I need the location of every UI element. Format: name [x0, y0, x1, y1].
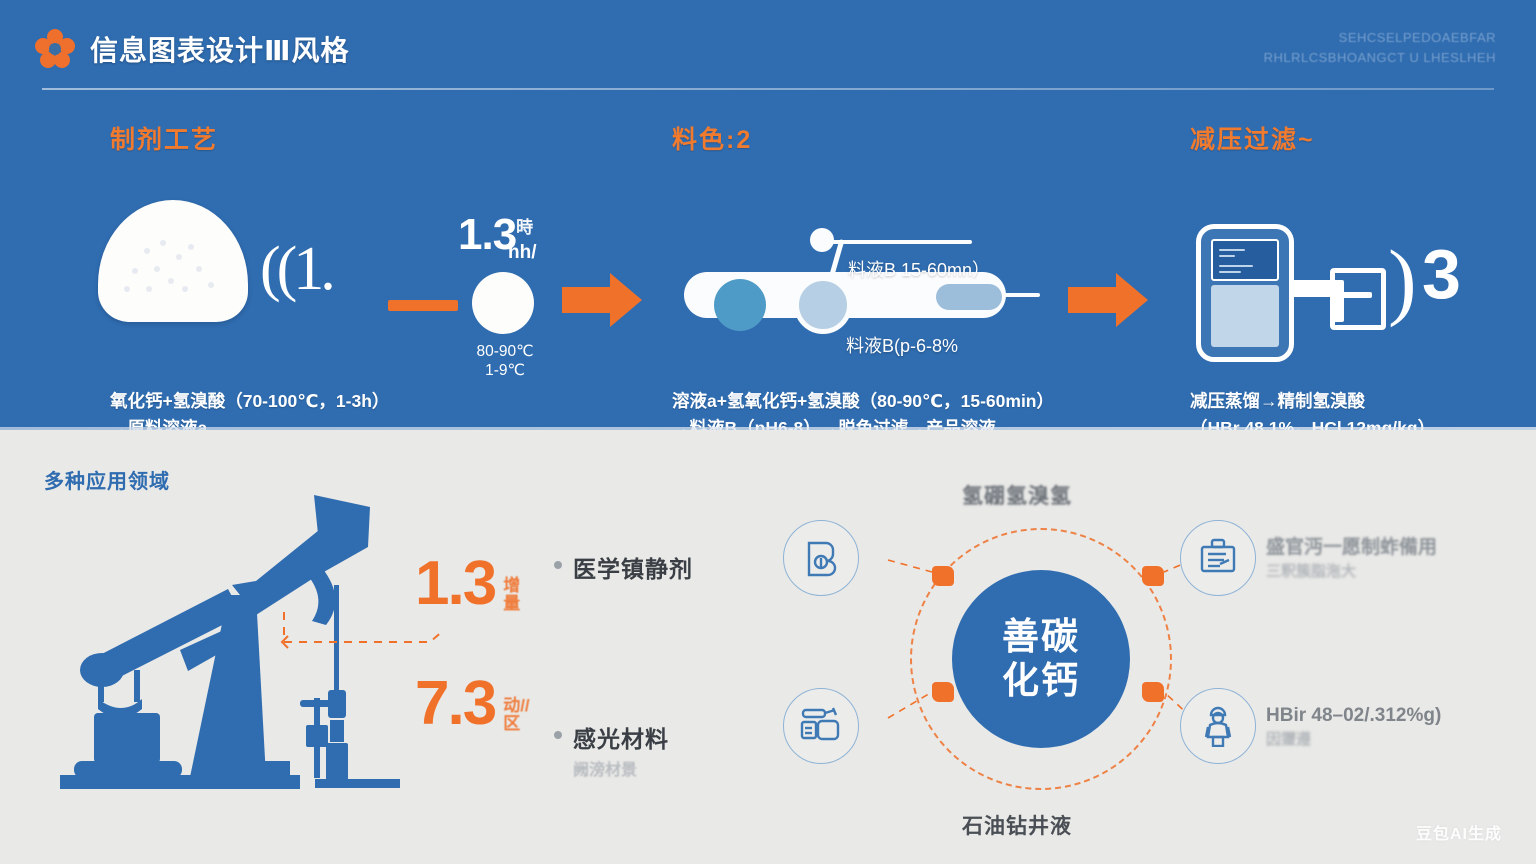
vessel-dot-2: [794, 276, 852, 334]
document-info-icon[interactable]: [783, 520, 859, 596]
slide-header: 信息图表设计Ⅲ风格: [34, 28, 349, 70]
page-title: 信息图表设计Ⅲ风格: [90, 29, 349, 69]
bullet-dot-icon-1: [554, 561, 562, 569]
process-step-1: 制剂工艺 ((1. 1.3時 hh/ 80-90℃ 1-9℃: [110, 120, 670, 442]
distillation-unit-icon: [1196, 224, 1294, 362]
vessel-top-line: [832, 240, 972, 244]
slide-root: 信息图表设计Ⅲ风格 SEHCSELPEDOAEBFAR RHLRLCSBHOAN…: [0, 0, 1536, 864]
step-2-label-top: 料液B 15-60mn）: [848, 256, 990, 282]
condenser-icon: [1330, 268, 1386, 330]
reaction-circle-icon: [472, 272, 534, 334]
corner-note-line-1: SEHCSELPEDOAEBFAR: [1264, 28, 1496, 48]
step-3-art: ) 3: [1190, 172, 1530, 352]
hub-legend-1-line-2: 三釈簇脂沲大: [1266, 560, 1437, 581]
distiller-tank: [1211, 285, 1279, 347]
hub-legend-1: 盛官沔一愿制蚱備用 三釈簇脂沲大: [1266, 532, 1437, 581]
stat-1-unit: 增 量: [503, 577, 520, 613]
distiller-screen: [1211, 239, 1279, 281]
hub-caption-top: 氢硼氢溴氢: [962, 480, 1072, 510]
dashed-connector: [280, 608, 480, 673]
step-1-paren-text: ((1.: [260, 234, 332, 305]
header-divider: [42, 88, 1494, 90]
watermark: 豆包AI生成: [1416, 820, 1502, 844]
hub-legend-2-line-2: 因瓕遵: [1266, 728, 1441, 749]
stat-block-2: 7.3 动// 区: [415, 675, 530, 734]
hub-node-bottom-left: [932, 682, 954, 702]
application-bullet-1[interactable]: 医学镇静剂: [554, 550, 693, 584]
hub-core-label: 善碳 化钙: [952, 570, 1130, 748]
bullet-dot-icon-2: [554, 731, 562, 739]
clipboard-form-icon[interactable]: [1180, 520, 1256, 596]
step-3-paren-text: ): [1388, 230, 1417, 330]
step-2-art: 料液B 15-60mn） 料液B(p-6-8%: [672, 172, 1172, 352]
stat-1-value: 1.3: [415, 555, 495, 614]
applications-panel: 多种应用领域: [0, 430, 1536, 864]
stat-block-1: 1.3 增 量: [415, 555, 520, 614]
process-step-3: 减压过滤~ ) 3 减压蒸馏→精制氢溴酸 （HBr: [1190, 120, 1530, 442]
step-1-dash-bar: [388, 300, 458, 311]
hub-node-bottom-right: [1142, 682, 1164, 702]
step-1-title: 制剂工艺: [110, 120, 670, 156]
bullet-1-label: 医学镇静剂: [573, 550, 693, 584]
corner-note: SEHCSELPEDOAEBFAR RHLRLCSBHOANGCT U LHES…: [1264, 28, 1496, 68]
step-2-title: 料色:2: [672, 120, 1172, 156]
step-3-number: 3: [1422, 234, 1461, 314]
stat-2-value: 7.3: [415, 675, 495, 734]
vessel-dot-1: [714, 279, 766, 331]
flower-cluster-logo-icon: [34, 28, 76, 70]
powder-mound-icon: [98, 200, 248, 322]
hub-caption-bottom: 石油钻井液: [962, 810, 1072, 840]
step-3-title: 减压过滤~: [1190, 120, 1530, 156]
corner-note-line-2: RHLRLCSBHOANGCT U LHESLHEH: [1264, 48, 1496, 68]
vessel-dot-3: [936, 284, 1002, 310]
process-step-2: 料色:2 料液B 15-60mn） 料液B(p-6-8% 溶液a+氢氧化钙+氢溴…: [672, 120, 1172, 442]
vessel-ball: [810, 228, 834, 252]
process-panel: 信息图表设计Ⅲ风格 SEHCSELPEDOAEBFAR RHLRLCSBHOAN…: [0, 0, 1536, 430]
step-1-stat-unit: hh/: [508, 242, 537, 264]
stat-2-unit: 动// 区: [503, 697, 529, 733]
hub-legend-1-line-1: 盛官沔一愿制蚱備用: [1266, 532, 1437, 559]
hub-legend-2: HBir 48–02/.312%g) 因瓕遵: [1266, 705, 1441, 749]
application-bullet-2[interactable]: 感光材料 阙滂材景: [554, 720, 669, 780]
condenser-bar: [1342, 292, 1372, 298]
vessel-out-line: [1004, 293, 1040, 297]
hub-node-top-right: [1142, 566, 1164, 586]
step-1-circle-sub: 80-90℃ 1-9℃: [440, 342, 570, 381]
bullet-2-sub: 阙滂材景: [573, 756, 669, 780]
step-1-stat-sup: 時: [516, 218, 533, 237]
application-hub-diagram: 氢硼氢溴氢 石油钻井液 善碳 化钙: [780, 470, 1300, 850]
step-1-art: ((1. 1.3時 hh/ 80-90℃ 1-9℃: [110, 172, 670, 352]
tank-truck-icon[interactable]: [783, 688, 859, 764]
worker-figure-icon[interactable]: [1180, 688, 1256, 764]
step-2-label-bottom: 料液B(p-6-8%: [846, 332, 958, 358]
bullet-2-label: 感光材料: [573, 720, 669, 754]
hub-node-top-left: [932, 566, 954, 586]
hub-legend-2-line-1: HBir 48–02/.312%g): [1266, 705, 1441, 727]
